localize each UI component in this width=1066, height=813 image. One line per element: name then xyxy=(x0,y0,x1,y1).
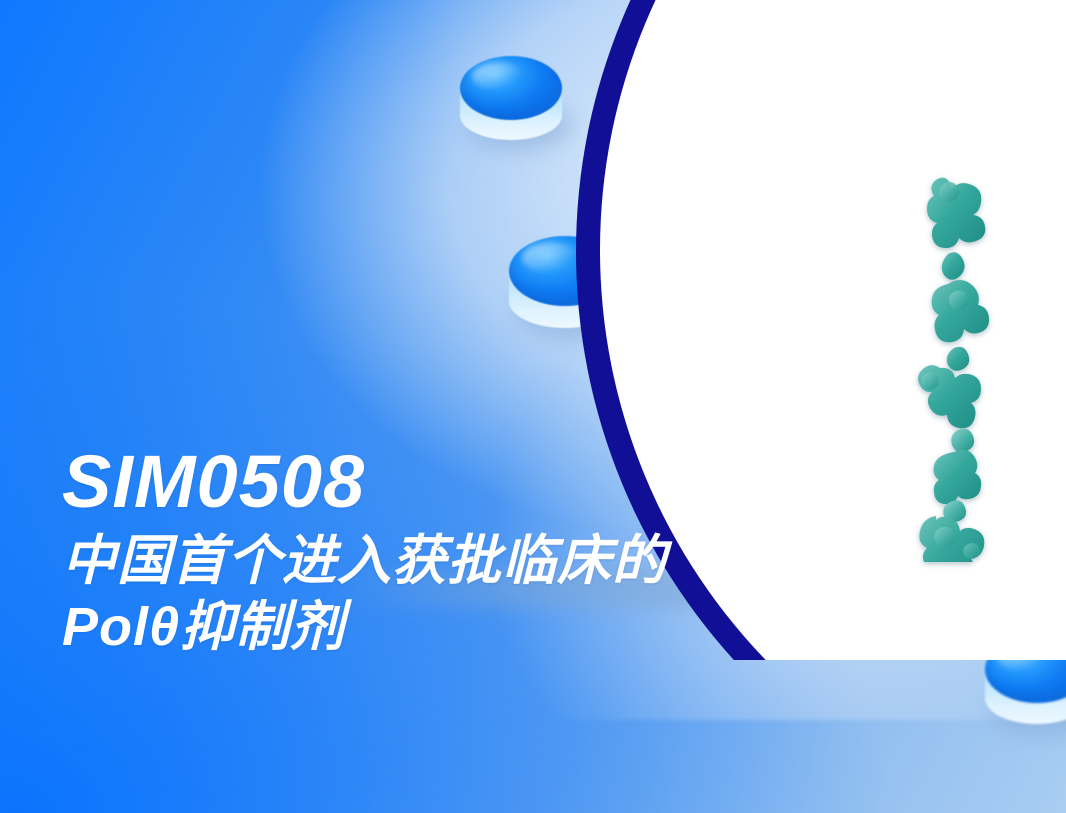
tablet-gloss xyxy=(472,63,525,90)
headline-block: SIM0508 中国首个进入获批临床的 Polθ抑制剂 xyxy=(62,440,882,660)
protein-structure-icon xyxy=(896,162,1020,562)
tablet-1 xyxy=(460,56,562,140)
poster-canvas: SIM0508 中国首个进入获批临床的 Polθ抑制剂 xyxy=(0,0,1066,813)
subtitle-line-2: Polθ抑制剂 xyxy=(62,594,882,660)
subtitle-line-1: 中国首个进入获批临床的 xyxy=(62,528,882,594)
page-title: SIM0508 xyxy=(62,440,882,524)
